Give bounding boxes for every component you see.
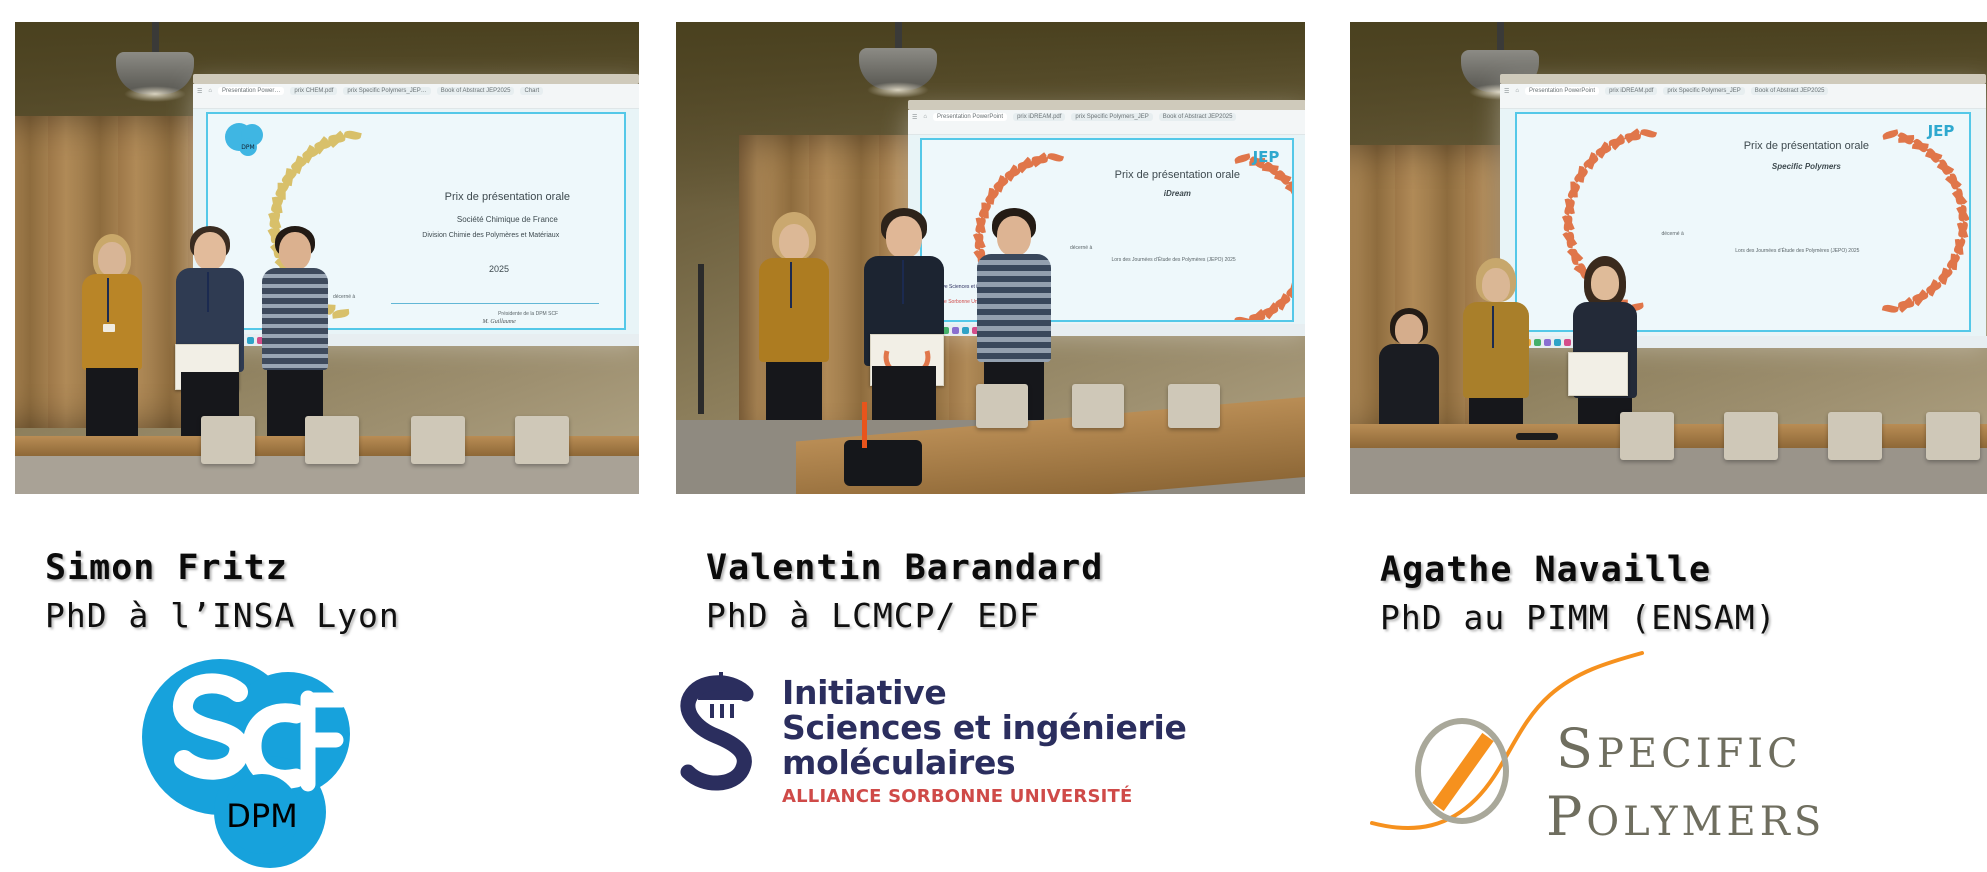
winner-role-2: PhD à LCMCP/ EDF [706, 596, 1040, 635]
slide-title: Prix de présentation orale [1671, 140, 1943, 152]
menu-icon: ☰ [1504, 88, 1509, 95]
remote-control [1516, 433, 1558, 440]
winner-role-1: PhD à l’INSA Lyon [45, 596, 400, 635]
winners-board: ☰ ⌂ Presentation Power… prix CHEM.pdf pr… [0, 0, 1987, 872]
scf-dpm-logo: DPM [120, 652, 370, 872]
browser-tab[interactable]: Book of Abstract JEP2025 [1159, 113, 1237, 121]
menu-icon: ☰ [197, 88, 202, 95]
logo-line-1: Initiative [782, 676, 1187, 711]
browser-tab[interactable]: Presentation Power… [218, 87, 284, 95]
browser-tab[interactable]: Book of Abstract JEP2025 [437, 87, 515, 95]
winner-photo-1: ☰ ⌂ Presentation Power… prix CHEM.pdf pr… [15, 22, 639, 494]
browser-tab[interactable]: prix Specific Polymers_JEP [1663, 87, 1744, 95]
browser-tab[interactable]: prix Specific Polymers_JEP [1071, 113, 1152, 121]
slide-event: Lors des Journées d’Étude des Polymères … [1063, 257, 1285, 263]
browser-tab[interactable]: prix iDREAM.pdf [1013, 113, 1065, 121]
home-icon: ⌂ [923, 114, 927, 120]
browser-tab[interactable]: prix CHEM.pdf [290, 87, 337, 95]
winner-column-1: ☰ ⌂ Presentation Power… prix CHEM.pdf pr… [15, 0, 648, 872]
browser-tab[interactable]: prix Specific Polymers_JEP… [343, 87, 430, 95]
winner-name-3: Agathe Navaille [1380, 550, 1711, 590]
sorbonne-dome-s-icon [676, 672, 768, 800]
home-icon: ⌂ [208, 88, 212, 94]
slide-org: Société Chimique de France [391, 215, 624, 224]
browser-tab[interactable]: Chart [520, 87, 543, 95]
browser-chrome: ☰ ⌂ Presentation PowerPoint prix iDREAM.… [1500, 84, 1986, 109]
slide-title: Prix de présentation orale [1070, 169, 1285, 181]
specific-polymers-logo: SPECIFIC POLYMERS [1340, 625, 1980, 865]
browser-tab[interactable]: prix iDREAM.pdf [1605, 87, 1657, 95]
scf-dpm-text: DPM [226, 797, 298, 835]
slide-award-to: décerné à [1661, 231, 1752, 237]
browser-tab[interactable]: Presentation PowerPoint [1525, 87, 1599, 95]
cable [862, 402, 867, 448]
jepo-logo-icon: JEP [1246, 144, 1286, 170]
menu-icon: ☰ [912, 114, 917, 121]
winner-photo-2: ☰ ⌂ Presentation PowerPoint prix iDREAM.… [676, 22, 1305, 494]
slide-event: Lors des Journées d’Étude des Polymères … [1652, 248, 1942, 254]
slide-award-to: décerné à [1070, 245, 1144, 251]
certificate [1568, 352, 1628, 396]
slide-division: Division Chimie des Polymères et Matéria… [358, 232, 624, 239]
slide-subject: Specific Polymers [1671, 162, 1943, 171]
slide-signature-role: Présidente de la DPM SCF [441, 311, 615, 317]
mic-stand [698, 264, 704, 414]
home-icon: ⌂ [1515, 88, 1519, 94]
winner-photo-3: ☰ ⌂ Presentation PowerPoint prix iDREAM.… [1350, 22, 1987, 494]
logo-alliance-sub: ALLIANCE SORBONNE UNIVERSITÉ [782, 786, 1187, 807]
slide-year: 2025 [416, 264, 582, 274]
winner-column-3: ☰ ⌂ Presentation PowerPoint prix iDREAM.… [1350, 0, 1983, 872]
logo-line-2: Sciences et ingénierie [782, 711, 1187, 746]
browser-chrome: ☰ ⌂ Presentation Power… prix CHEM.pdf pr… [193, 84, 639, 109]
polymers-word: POLYMERS [1546, 785, 1825, 848]
browser-tab[interactable]: Presentation PowerPoint [933, 113, 1007, 121]
winner-name-1: Simon Fritz [45, 548, 288, 588]
winner-column-2: ☰ ⌂ Presentation PowerPoint prix iDREAM.… [676, 0, 1309, 872]
logo-line-3: moléculaires [782, 746, 1187, 781]
slide-subject: iDream [1070, 189, 1285, 198]
specific-word: SPECIFIC [1556, 717, 1802, 780]
svg-text:JEP: JEP [1927, 122, 1955, 140]
winner-name-2: Valentin Barandard [706, 548, 1103, 588]
slide-signature-name: M. Guillaume [482, 319, 515, 325]
slide-award-to: décerné à [333, 294, 408, 300]
slide-title: Prix de présentation orale [391, 191, 624, 203]
svg-text:JEP: JEP [1252, 148, 1280, 166]
browser-tab[interactable]: Book of Abstract JEP2025 [1751, 87, 1829, 95]
equipment-bag [844, 440, 922, 486]
browser-chrome: ☰ ⌂ Presentation PowerPoint prix iDREAM.… [908, 110, 1305, 135]
initiative-sciences-logo: Initiative Sciences et ingénierie molécu… [676, 672, 1236, 822]
